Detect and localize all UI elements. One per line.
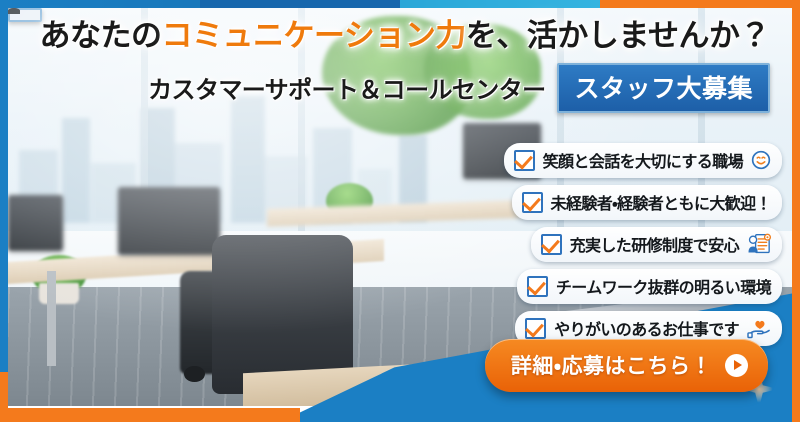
bottom-orange-strip xyxy=(0,408,300,422)
monitor xyxy=(118,187,220,255)
left-edge-orange xyxy=(0,372,8,422)
chair-wheel xyxy=(184,366,204,382)
headline-pre: あなたの xyxy=(40,18,162,53)
list-item-label: 笑顔と会話を大切にする職場 xyxy=(543,148,743,172)
subtitle-row: カスタマーサポート＆コールセンター スタッフ大募集 xyxy=(0,63,770,113)
top-color-bar xyxy=(0,0,800,8)
list-item[interactable]: 充実した研修制度で安心 xyxy=(531,227,782,262)
checkbox-checked-icon xyxy=(541,234,562,255)
apply-button[interactable]: 詳細・応募はこちら！ xyxy=(485,339,768,392)
smiley-face-icon xyxy=(751,150,771,170)
checkbox-checked-icon xyxy=(514,150,535,171)
list-item-label: チームワーク抜群の明るい環境 xyxy=(556,274,771,298)
topbar-segment-2 xyxy=(200,0,400,8)
checkbox-checked-icon xyxy=(525,318,546,339)
checkbox-checked-icon xyxy=(522,192,543,213)
topbar-segment-1 xyxy=(0,0,200,8)
headline-block: あなたのコミュニケーション力を、活かしませんか？ カスタマーサポート＆コールセン… xyxy=(0,18,792,113)
apply-button-label: 詳細・応募はこちら！ xyxy=(511,350,712,380)
page-title: あなたのコミュニケーション力を、活かしませんか？ xyxy=(0,18,770,54)
list-item[interactable]: 笑顔と会話を大切にする職場 xyxy=(504,143,782,178)
list-item[interactable]: チームワーク抜群の明るい環境 xyxy=(517,269,782,304)
list-item-label: 充実した研修制度で安心 xyxy=(570,232,739,256)
topbar-segment-4 xyxy=(600,0,800,8)
list-item-label: やりがいのあるお仕事です xyxy=(554,316,739,340)
feature-list: 笑顔と会話を大切にする職場 未経験者・経験者ともに大歓迎！ 充実した研修制度で安… xyxy=(506,143,782,346)
monitor xyxy=(8,195,63,251)
list-item[interactable]: 未経験者・経験者ともに大歓迎！ xyxy=(512,185,782,220)
training-document-icon xyxy=(747,233,771,255)
status-badge: スタッフ大募集 xyxy=(557,63,770,113)
subtitle: カスタマーサポート＆コールセンター xyxy=(148,70,545,105)
headline-post: を、活かしませんか？ xyxy=(466,18,770,53)
list-item-label: 未経験者・経験者ともに大歓迎！ xyxy=(551,190,771,214)
chevron-right-icon xyxy=(725,354,748,377)
heart-in-hand-icon xyxy=(747,317,771,339)
recruitment-banner: あなたのコミュニケーション力を、活かしませんか？ カスタマーサポート＆コールセン… xyxy=(0,0,800,422)
headline-accent: コミュニケーション力 xyxy=(162,18,466,53)
topbar-segment-3 xyxy=(400,0,600,8)
checkbox-checked-icon xyxy=(527,276,548,297)
desk-leg xyxy=(47,271,56,367)
right-edge-orange xyxy=(792,0,800,422)
